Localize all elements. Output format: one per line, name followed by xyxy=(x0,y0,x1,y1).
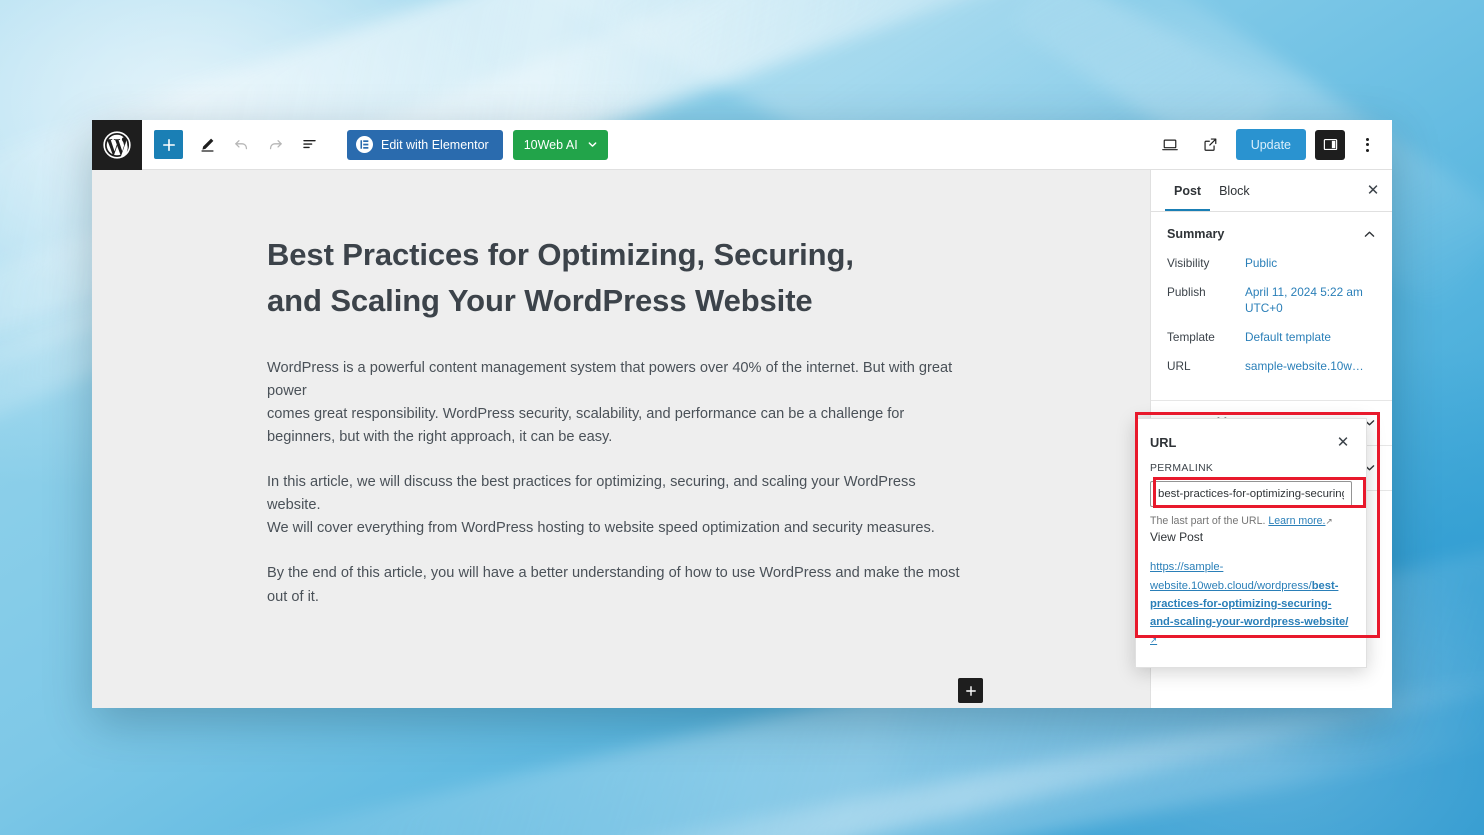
desktop-preview-icon[interactable] xyxy=(1154,129,1186,161)
add-block-button[interactable] xyxy=(154,130,183,159)
url-popover: URL ✕ PERMALINK The last part of the URL… xyxy=(1135,418,1367,668)
editor-canvas[interactable]: Best Practices for Optimizing, Securing,… xyxy=(92,170,1150,708)
elementor-button-label: Edit with Elementor xyxy=(381,138,489,152)
external-link-icon: ↗ xyxy=(1326,516,1333,526)
toolbar-action-buttons: Edit with Elementor 10Web AI xyxy=(347,130,608,160)
summary-label: Template xyxy=(1167,330,1245,344)
external-link-icon: ↗ xyxy=(1150,635,1157,645)
document-overview-icon[interactable] xyxy=(293,129,325,161)
post-content-wrapper: Best Practices for Optimizing, Securing,… xyxy=(92,170,1150,609)
kebab-dots xyxy=(1366,138,1369,152)
post-paragraph[interactable]: WordPress is a powerful content manageme… xyxy=(267,357,967,449)
url-popover-title: URL xyxy=(1150,435,1176,450)
summary-label: Publish xyxy=(1167,285,1245,299)
permalink-prefix: https://sample-website.10web.cloud/wordp… xyxy=(1150,561,1312,591)
url-popover-header: URL ✕ xyxy=(1150,433,1352,451)
summary-label: URL xyxy=(1167,359,1245,373)
post-paragraph[interactable]: In this article, we will discuss the bes… xyxy=(267,471,967,540)
edit-with-elementor-button[interactable]: Edit with Elementor xyxy=(347,130,503,160)
permalink-label: PERMALINK xyxy=(1150,463,1352,474)
external-link-icon[interactable] xyxy=(1195,129,1227,161)
tools-pencil-icon[interactable] xyxy=(191,129,223,161)
permalink-input[interactable] xyxy=(1150,481,1352,507)
close-icon[interactable]: ✕ xyxy=(1334,433,1352,451)
summary-row-visibility: Visibility Public xyxy=(1167,256,1376,272)
close-glyph: ✕ xyxy=(1367,183,1380,198)
summary-section: Summary Visibility Public Publish April … xyxy=(1151,212,1392,401)
tenweb-ai-button[interactable]: 10Web AI xyxy=(513,130,608,160)
summary-value-visibility[interactable]: Public xyxy=(1245,256,1277,272)
close-icon[interactable]: ✕ xyxy=(1358,176,1388,206)
learn-more-link[interactable]: Learn more. xyxy=(1268,515,1325,527)
add-block-inline-button[interactable] xyxy=(958,678,983,703)
summary-row-url: URL sample-website.10we… xyxy=(1167,359,1376,375)
permalink-help-label: The last part of the URL. xyxy=(1150,515,1265,527)
sidebar-tab-bar: Post Block ✕ xyxy=(1151,170,1392,212)
redo-arrow-icon[interactable] xyxy=(259,129,291,161)
update-button[interactable]: Update xyxy=(1236,129,1306,160)
close-glyph: ✕ xyxy=(1337,435,1350,450)
wordpress-editor-window: Edit with Elementor 10Web AI xyxy=(92,120,1392,708)
toolbar-left-group xyxy=(142,129,325,161)
post-paragraph[interactable]: By the end of this article, you will hav… xyxy=(267,562,967,608)
settings-sidebar-icon[interactable] xyxy=(1315,130,1345,160)
elementor-logo-icon xyxy=(356,136,373,153)
kebab-menu-icon[interactable] xyxy=(1354,130,1380,160)
post-settings-sidebar: Post Block ✕ Summary Vis xyxy=(1150,170,1392,708)
summary-row-publish: Publish April 11, 2024 5:22 am UTC+0 xyxy=(1167,285,1376,317)
post-title[interactable]: Best Practices for Optimizing, Securing,… xyxy=(267,232,907,323)
summary-label: Visibility xyxy=(1167,256,1245,270)
summary-value-template[interactable]: Default template xyxy=(1245,330,1331,346)
summary-section-header[interactable]: Summary xyxy=(1167,212,1376,256)
summary-row-template: Template Default template xyxy=(1167,330,1376,346)
toolbar-right-group: Update xyxy=(1154,129,1392,161)
post-permalink-link[interactable]: https://sample-website.10web.cloud/wordp… xyxy=(1150,558,1352,649)
chevron-up-icon xyxy=(1363,228,1376,241)
editor-body: Best Practices for Optimizing, Securing,… xyxy=(92,170,1392,708)
summary-rows: Visibility Public Publish April 11, 2024… xyxy=(1167,256,1376,400)
permalink-help-text: The last part of the URL. Learn more.↗ xyxy=(1150,514,1352,529)
tab-post[interactable]: Post xyxy=(1165,170,1210,211)
tab-block[interactable]: Block xyxy=(1210,170,1259,211)
summary-title: Summary xyxy=(1167,227,1224,241)
tenweb-button-label: 10Web AI xyxy=(524,138,578,152)
view-post-label: View Post xyxy=(1150,530,1352,544)
desktop-wallpaper: Edit with Elementor 10Web AI xyxy=(0,0,1484,835)
wordpress-logo-icon[interactable] xyxy=(92,120,142,170)
update-button-label: Update xyxy=(1251,138,1291,152)
editor-top-toolbar: Edit with Elementor 10Web AI xyxy=(92,120,1392,170)
summary-value-url[interactable]: sample-website.10we… xyxy=(1245,359,1370,375)
summary-value-publish[interactable]: April 11, 2024 5:22 am UTC+0 xyxy=(1245,285,1376,317)
chevron-down-icon xyxy=(588,140,597,149)
undo-arrow-icon[interactable] xyxy=(225,129,257,161)
